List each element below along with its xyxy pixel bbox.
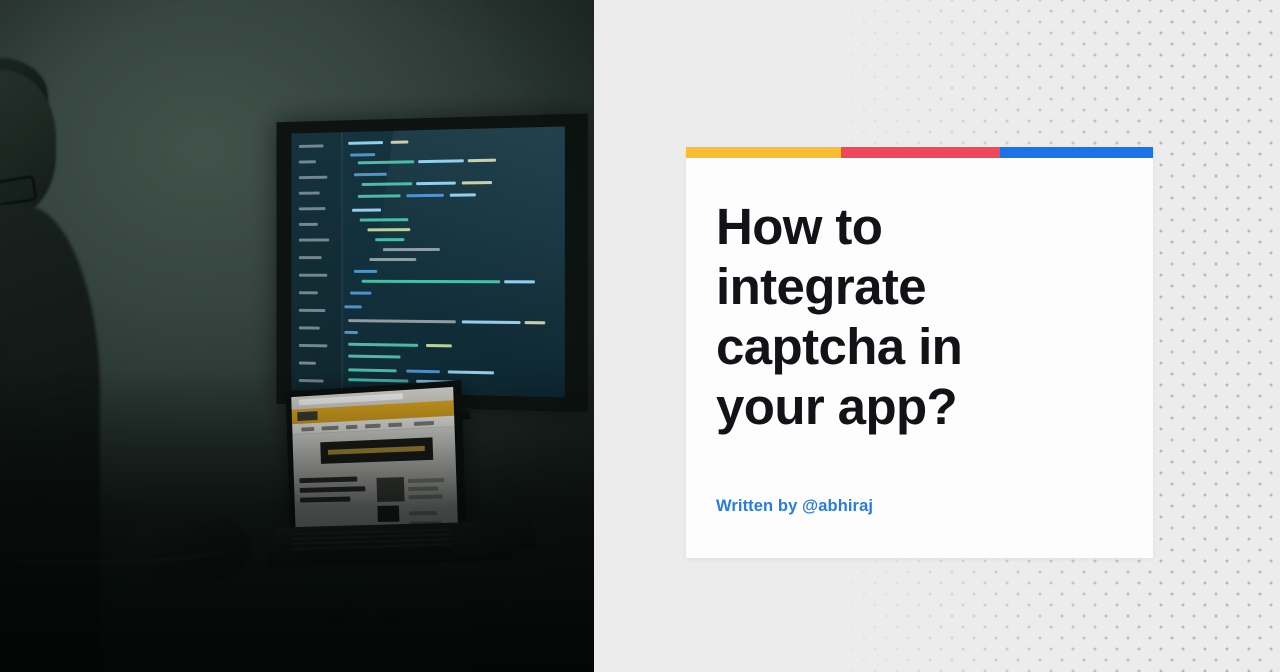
author-byline: Written by @abhiraj <box>716 497 873 516</box>
photo-bottom-shadow <box>0 372 594 672</box>
page-title: How to integrate captcha in your app? <box>716 197 1127 437</box>
accent-bar <box>686 147 1153 158</box>
title-card: How to integrate captcha in your app? Wr… <box>686 147 1153 558</box>
accent-segment-yellow <box>686 147 841 158</box>
cover-right-panel: How to integrate captcha in your app? Wr… <box>594 0 1280 672</box>
hero-photo <box>0 0 594 672</box>
accent-segment-red <box>841 147 1000 158</box>
title-card-content: How to integrate captcha in your app? <box>716 197 1127 437</box>
accent-segment-blue <box>1000 147 1153 158</box>
cover-image-stage: How to integrate captcha in your app? Wr… <box>0 0 1280 672</box>
